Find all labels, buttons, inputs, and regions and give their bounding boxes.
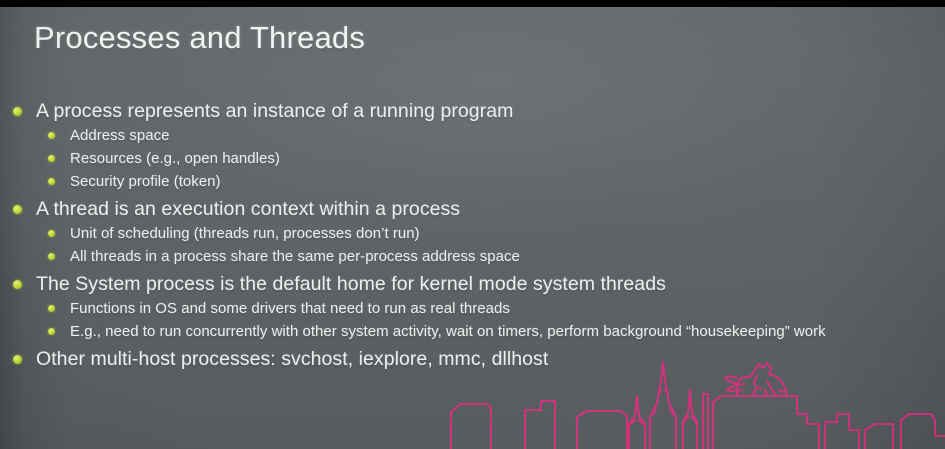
bullet-marker-icon xyxy=(13,107,22,116)
bullet-marker-icon xyxy=(48,155,55,162)
bullet-marker-icon xyxy=(48,305,55,312)
bullet-item-level2: Resources (e.g., open handles) xyxy=(0,148,945,169)
bullet-item-level2: Unit of scheduling (threads run, process… xyxy=(0,223,945,244)
bullet-marker-icon xyxy=(48,178,55,185)
bullet-marker-icon xyxy=(48,328,55,335)
bullet-text: Address space xyxy=(70,125,169,146)
bullet-group: The System process is the default home f… xyxy=(0,271,945,342)
bullet-item-level2: E.g., need to run concurrently with othe… xyxy=(0,321,945,342)
letterbox-bar xyxy=(0,0,945,7)
presentation-slide: Processes and Threads A process represen… xyxy=(0,0,945,449)
bullet-group: A process represents an instance of a ru… xyxy=(0,98,945,192)
bullet-item-level1: A process represents an instance of a ru… xyxy=(0,98,945,124)
bullet-text: A process represents an instance of a ru… xyxy=(36,98,513,124)
page-title: Processes and Threads xyxy=(34,20,365,56)
bullet-list: A process represents an instance of a ru… xyxy=(0,98,945,373)
bullet-group: Other multi-host processes: svchost, iex… xyxy=(0,346,945,372)
bullet-text: A thread is an execution context within … xyxy=(36,196,460,222)
bullet-item-level2: All threads in a process share the same … xyxy=(0,246,945,267)
bullet-marker-icon xyxy=(48,132,55,139)
bullet-marker-icon xyxy=(13,280,22,289)
bullet-text: Resources (e.g., open handles) xyxy=(70,148,280,169)
bullet-marker-icon xyxy=(13,355,22,364)
bullet-text: Other multi-host processes: svchost, iex… xyxy=(36,346,548,372)
bullet-item-level2: Address space xyxy=(0,125,945,146)
bullet-item-level1: A thread is an execution context within … xyxy=(0,196,945,222)
bullet-item-level2: Security profile (token) xyxy=(0,171,945,192)
bullet-marker-icon xyxy=(13,205,22,214)
bullet-item-level1: Other multi-host processes: svchost, iex… xyxy=(0,346,945,372)
bullet-text: The System process is the default home f… xyxy=(36,271,666,297)
bullet-text: Functions in OS and some drivers that ne… xyxy=(70,298,510,319)
bullet-text: All threads in a process share the same … xyxy=(70,246,520,267)
bullet-marker-icon xyxy=(48,253,55,260)
bullet-group: A thread is an execution context within … xyxy=(0,196,945,267)
bullet-text: E.g., need to run concurrently with othe… xyxy=(70,321,826,342)
bullet-item-level1: The System process is the default home f… xyxy=(0,271,945,297)
bullet-item-level2: Functions in OS and some drivers that ne… xyxy=(0,298,945,319)
bullet-text: Unit of scheduling (threads run, process… xyxy=(70,223,420,244)
bullet-text: Security profile (token) xyxy=(70,171,221,192)
bullet-marker-icon xyxy=(48,230,55,237)
